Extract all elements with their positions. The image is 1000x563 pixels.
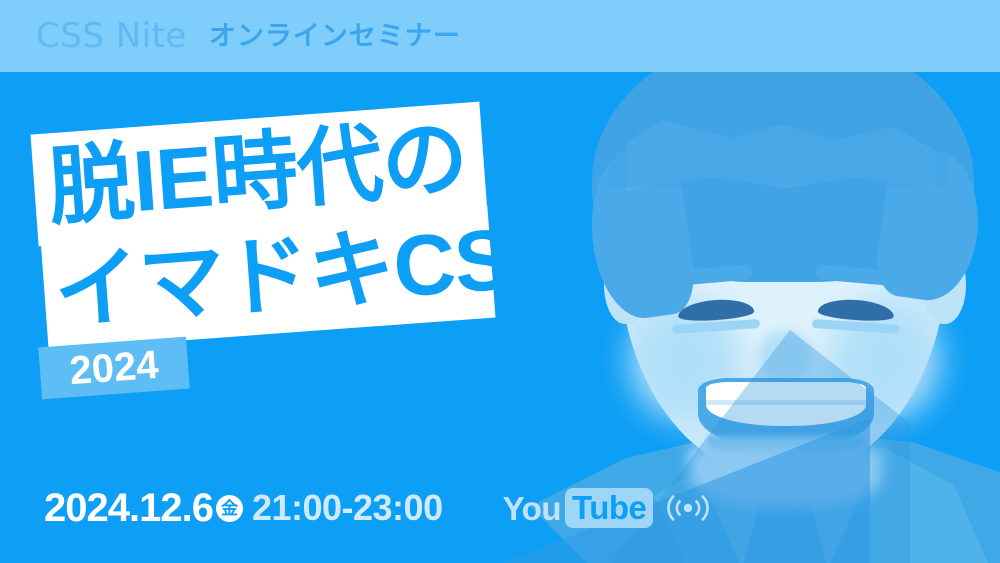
day-of-week-badge: 金: [216, 495, 243, 522]
year-badge: 2024: [38, 337, 189, 400]
youtube-logo: You Tube: [503, 488, 712, 528]
event-info-row: 2024.12.6 金 21:00-23:00 You Tube: [44, 488, 711, 528]
header-band: CSS Nite オンラインセミナー: [0, 0, 1000, 72]
title-line2-text: イマドキCSS: [52, 217, 570, 334]
year-badge-text: 2024: [68, 345, 160, 391]
day-of-week-text: 金: [221, 500, 238, 517]
youtube-tube-text: Tube: [572, 491, 646, 524]
event-date: 2024.12.6: [44, 488, 213, 528]
event-time: 21:00-23:00: [252, 490, 443, 526]
brand-title: CSS Nite: [36, 19, 187, 53]
title-block: 脱IE時代の イマドキCSS 2024: [0, 0, 1000, 563]
youtube-you-text: You: [503, 492, 561, 525]
youtube-tube-box: Tube: [565, 488, 653, 528]
broadcast-live-icon: [665, 493, 711, 523]
brand-subtitle: オンラインセミナー: [209, 23, 461, 50]
event-poster: CSS Nite オンラインセミナー 脱IE時代の イマドキCSS 2024 2…: [0, 0, 1000, 563]
